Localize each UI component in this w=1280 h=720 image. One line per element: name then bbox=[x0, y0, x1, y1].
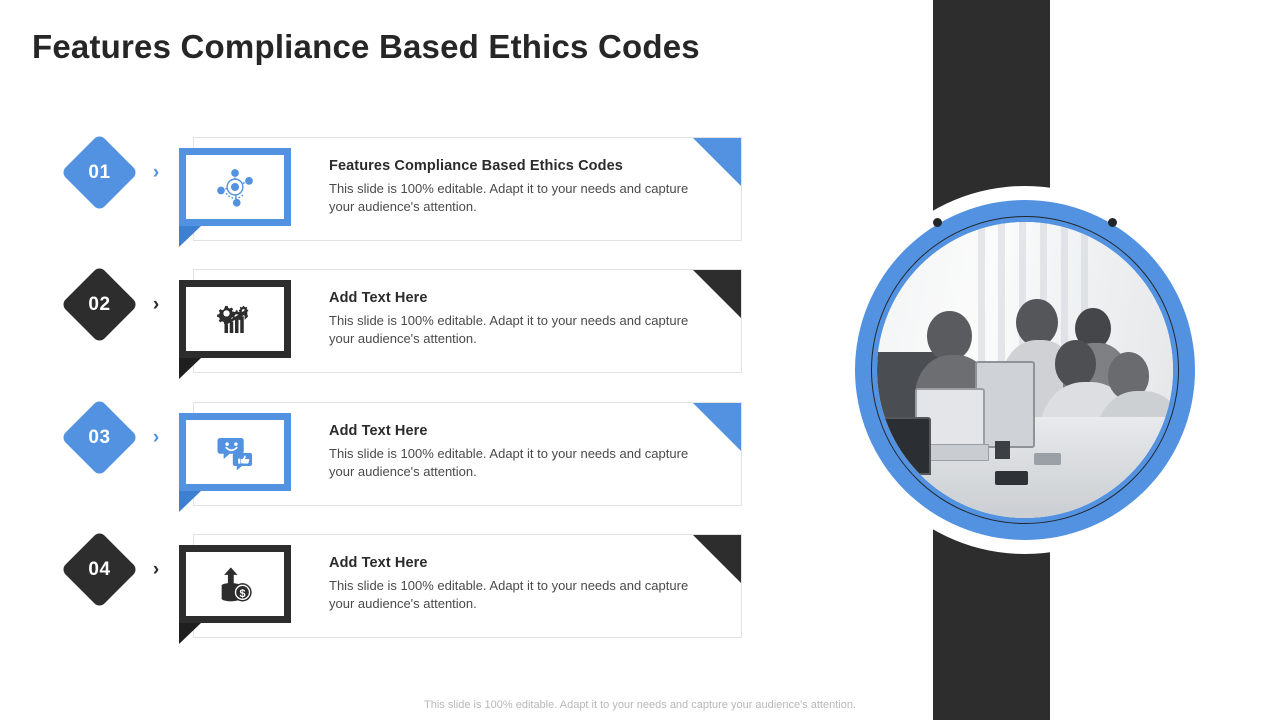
step-number: 04 bbox=[72, 542, 127, 597]
card-description: This slide is 100% editable. Adapt it to… bbox=[329, 577, 714, 614]
step-number: 01 bbox=[72, 145, 127, 200]
slide-footer-note: This slide is 100% editable. Adapt it to… bbox=[0, 699, 1280, 711]
icon-box-tail bbox=[179, 491, 201, 512]
list-item[interactable]: 02 › bbox=[0, 269, 760, 373]
slide-canvas: Features Compliance Based Ethics Codes bbox=[0, 0, 1280, 720]
card-title: Features Compliance Based Ethics Codes bbox=[329, 158, 714, 174]
chevron-right-icon: › bbox=[148, 292, 164, 316]
step-number-badge: 01 bbox=[61, 134, 139, 212]
icon-box-tail bbox=[179, 226, 201, 247]
card-text-block: Features Compliance Based Ethics Codes T… bbox=[329, 158, 714, 217]
list-item[interactable]: 03 › Add Text Here This slide is bbox=[0, 402, 760, 506]
card-description: This slide is 100% editable. Adapt it to… bbox=[329, 312, 714, 349]
team-meeting-photo bbox=[877, 222, 1173, 518]
chevron-right-icon: › bbox=[148, 557, 164, 581]
icon-box: $ bbox=[179, 545, 291, 623]
team-photo-circle bbox=[855, 200, 1195, 540]
feedback-smiley-thumbsup-icon bbox=[186, 420, 284, 484]
icon-box-tail bbox=[179, 358, 201, 379]
step-number-badge: 04 bbox=[61, 531, 139, 609]
chevron-right-icon: › bbox=[148, 160, 164, 184]
card-description: This slide is 100% editable. Adapt it to… bbox=[329, 445, 714, 482]
card-text-block: Add Text Here This slide is 100% editabl… bbox=[329, 290, 714, 349]
user-network-icon bbox=[186, 155, 284, 219]
card-title: Add Text Here bbox=[329, 555, 714, 571]
list-item[interactable]: 01 › Features Compliance Bas bbox=[0, 137, 760, 241]
card-text-block: Add Text Here This slide is 100% editabl… bbox=[329, 555, 714, 614]
step-number-badge: 03 bbox=[61, 399, 139, 477]
chevron-right-icon: › bbox=[148, 425, 164, 449]
list-item[interactable]: 04 › $ bbox=[0, 534, 760, 638]
icon-box bbox=[179, 413, 291, 491]
card-description: This slide is 100% editable. Adapt it to… bbox=[329, 180, 714, 217]
icon-box bbox=[179, 148, 291, 226]
coins-dollar-growth-icon: $ bbox=[186, 552, 284, 616]
page-title: Features Compliance Based Ethics Codes bbox=[32, 28, 700, 66]
icon-box bbox=[179, 280, 291, 358]
card-title: Add Text Here bbox=[329, 423, 714, 439]
gears-growth-chart-icon bbox=[186, 287, 284, 351]
step-number-badge: 02 bbox=[61, 266, 139, 344]
step-number: 02 bbox=[72, 277, 127, 332]
step-number: 03 bbox=[72, 410, 127, 465]
card-title: Add Text Here bbox=[329, 290, 714, 306]
card-text-block: Add Text Here This slide is 100% editabl… bbox=[329, 423, 714, 482]
icon-box-tail bbox=[179, 623, 201, 644]
svg-text:$: $ bbox=[239, 588, 245, 600]
